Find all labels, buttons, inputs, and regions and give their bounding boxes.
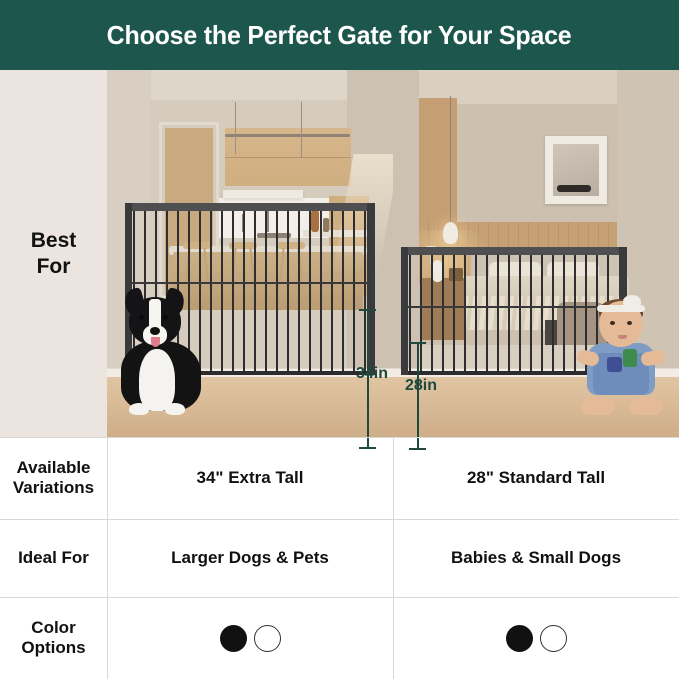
seated-baby [567,297,673,417]
row-label-variations: Available Variations [0,437,107,519]
baby-toy-blue [607,357,622,372]
row-label-best-for: Best For [0,70,107,437]
row-label-ideal-for: Ideal For [0,519,107,597]
color-options-right-cell [393,597,679,679]
baby-eye-right [627,321,632,325]
header-banner: Choose the Perfect Gate for Your Space [0,0,679,70]
table-row-ideal-for: Ideal For Larger Dogs & Pets Babies & Sm… [0,519,679,597]
color-options-left-cell [107,597,393,679]
measurement-annotation-28in: 28in [409,342,426,450]
bedroom-pendant-cord [450,96,451,226]
color-swatch-white[interactable] [540,625,567,652]
gate-left-post [401,247,408,375]
baby-arm-right [640,349,666,367]
best-for-label: Best For [31,228,77,279]
variations-value-left-cell: 34" Extra Tall [107,437,393,519]
baby-toy-green [623,349,637,367]
kitchen-rail [225,134,350,137]
comparison-table: Best For [0,70,679,679]
dog-chest [139,349,175,411]
ideal-for-value-left: Larger Dogs & Pets [171,548,329,568]
gate-top-rail [401,247,627,255]
gate-top-rail [125,203,375,211]
measurement-line [417,344,419,448]
color-options-line1: Color [31,618,75,637]
comparison-infographic: Choose the Perfect Gate for Your Space B… [0,0,679,679]
row-label-color-options: Color Options [0,597,107,679]
best-for-line1: Best [31,229,77,252]
color-swatches-left [220,625,281,652]
ideal-for-value-right: Babies & Small Dogs [451,548,621,568]
color-swatches-right [506,625,567,652]
baby-leg-right [629,398,663,415]
color-swatch-white[interactable] [254,625,281,652]
border-collie-dog [115,281,207,415]
baby-headband-bow [623,295,641,308]
dog-paw-left [129,403,149,415]
bedroom-pendant-lamp [443,222,458,244]
kitchen-shelf [223,190,303,198]
color-swatch-black[interactable] [220,625,247,652]
dog-nose [150,327,160,335]
baby-mouth [618,335,627,339]
measurement-label-28in: 28in [405,377,437,395]
baby-eye-left [610,321,615,325]
bedroom-wall-art-detail [557,185,591,192]
ideal-for-label: Ideal For [18,548,89,568]
variations-value-right: 28" Standard Tall [467,468,605,488]
color-options-label: Color Options [21,618,85,658]
kitchen-pendant-cord-2 [301,102,302,158]
color-options-line2: Options [21,638,85,657]
variations-value-left: 34" Extra Tall [197,468,304,488]
table-row-best-for: Best For [0,70,679,437]
column-divider-middle [393,437,394,679]
measurement-annotation-34in: 34in [359,309,376,449]
best-for-line2: For [37,255,71,278]
variations-value-right-cell: 28" Standard Tall [393,437,679,519]
dog-eye-right [163,315,168,320]
color-swatch-black[interactable] [506,625,533,652]
column-divider-label [107,437,108,679]
dog-paw-right [165,403,185,415]
variations-label: Available Variations [0,458,107,498]
baby-leg-left [581,398,615,415]
ideal-for-value-left-cell: Larger Dogs & Pets [107,519,393,597]
table-row-variations: Available Variations 34" Extra Tall 28" … [0,437,679,519]
dog-eye-left [139,315,144,320]
table-row-color-options: Color Options [0,597,679,679]
measurement-label-34in: 34in [356,365,388,383]
photo-kitchen-with-dog [107,70,393,437]
ideal-for-value-right-cell: Babies & Small Dogs [393,519,679,597]
bedroom-wall-art-frame [545,136,607,204]
kitchen-pendant-cord-1 [235,102,236,154]
page-title: Choose the Perfect Gate for Your Space [107,20,572,51]
dog-tongue [151,337,160,347]
